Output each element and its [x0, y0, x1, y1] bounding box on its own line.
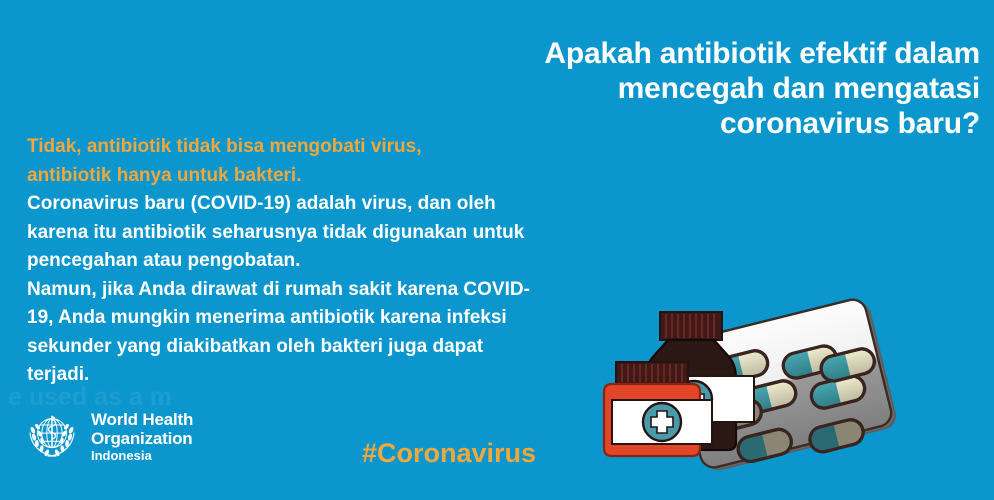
- antibiotics-illustration: [590, 290, 990, 495]
- who-name-line-1: World Health: [91, 410, 193, 429]
- who-wordmark: World Health Organization Indonesia: [91, 406, 193, 463]
- body-line-6: sekunder yang diakibatkan oleh bakteri j…: [27, 333, 617, 362]
- headline-line-2: mencegah dan mengatasi: [430, 71, 980, 106]
- lead-line-1: Tidak, antibiotik tidak bisa mengobati v…: [27, 133, 617, 162]
- hashtag-coronavirus: #Coronavirus: [362, 438, 536, 469]
- who-name-line-2: Organization: [91, 429, 193, 448]
- who-emblem-icon: [23, 406, 81, 466]
- body-copy: Tidak, antibiotik tidak bisa mengobati v…: [27, 133, 617, 390]
- lead-line-2: antibiotik hanya untuk bakteri.: [27, 162, 617, 191]
- who-country-label: Indonesia: [91, 448, 193, 463]
- page-title: Apakah antibiotik efektif dalam mencegah…: [430, 36, 980, 141]
- body-line-3: pencegahan atau pengobatan.: [27, 247, 617, 276]
- who-logo: World Health Organization Indonesia: [23, 406, 193, 466]
- body-line-2: karena itu antibiotik seharusnya tidak d…: [27, 219, 617, 248]
- body-line-7: terjadi.: [27, 361, 617, 390]
- body-line-4: Namun, jika Anda dirawat di rumah sakit …: [27, 276, 617, 305]
- headline-line-1: Apakah antibiotik efektif dalam: [430, 36, 980, 71]
- lead-answer-text: Tidak, antibiotik tidak bisa mengobati v…: [27, 133, 617, 190]
- poster-canvas: e used as a m Apakah antibiotik efektif …: [0, 0, 994, 500]
- body-line-1: Coronavirus baru (COVID-19) adalah virus…: [27, 190, 617, 219]
- explanation-text: Coronavirus baru (COVID-19) adalah virus…: [27, 190, 617, 390]
- body-line-5: 19, Anda mungkin menerima antibiotik kar…: [27, 304, 617, 333]
